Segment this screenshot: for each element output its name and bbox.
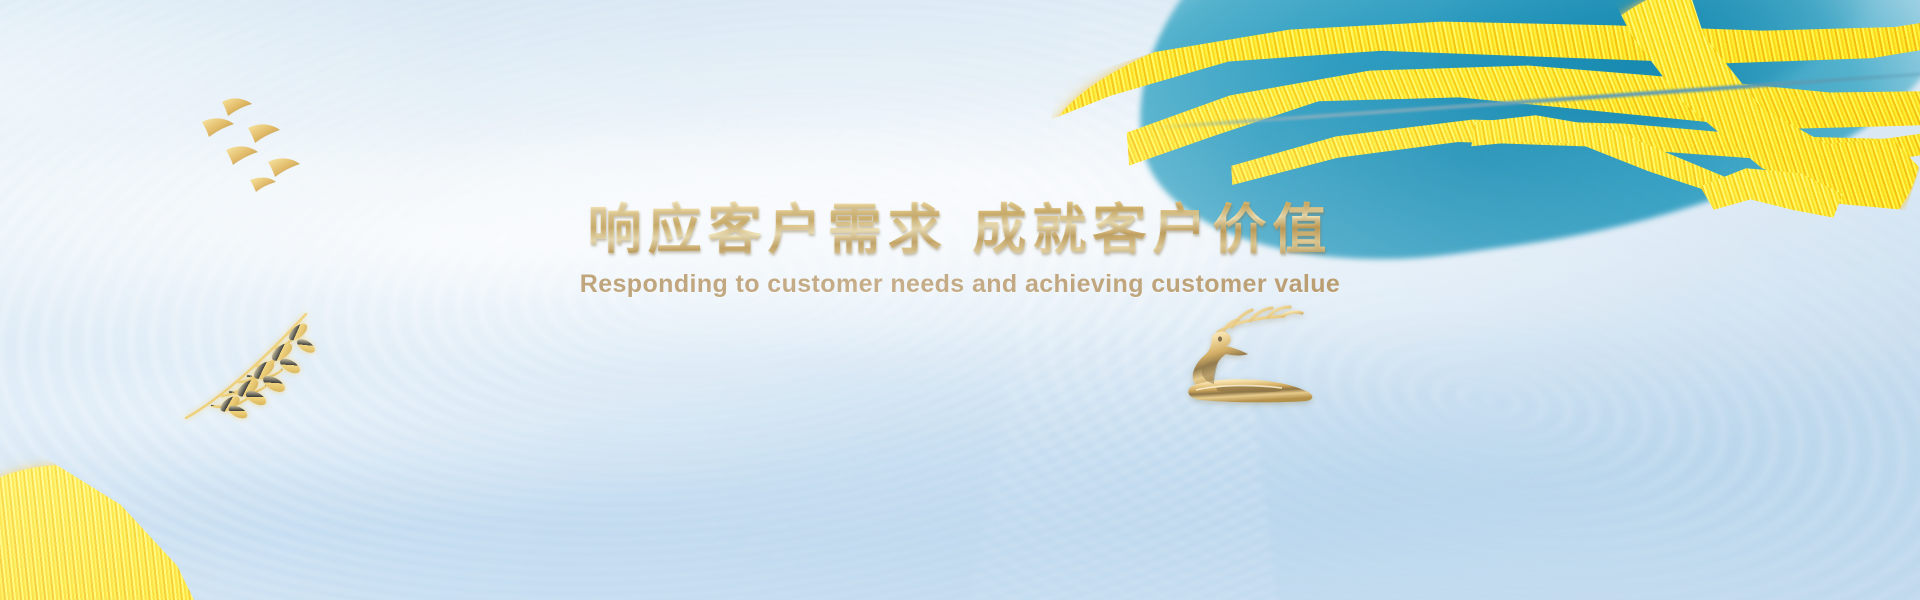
deer-sculpture-icon xyxy=(1172,296,1332,406)
flying-birds-icon xyxy=(196,88,336,198)
leaf-sprig-icon xyxy=(178,296,328,426)
hero-banner: 响应客户需求 成就客户价值 Responding to customer nee… xyxy=(0,0,1920,600)
